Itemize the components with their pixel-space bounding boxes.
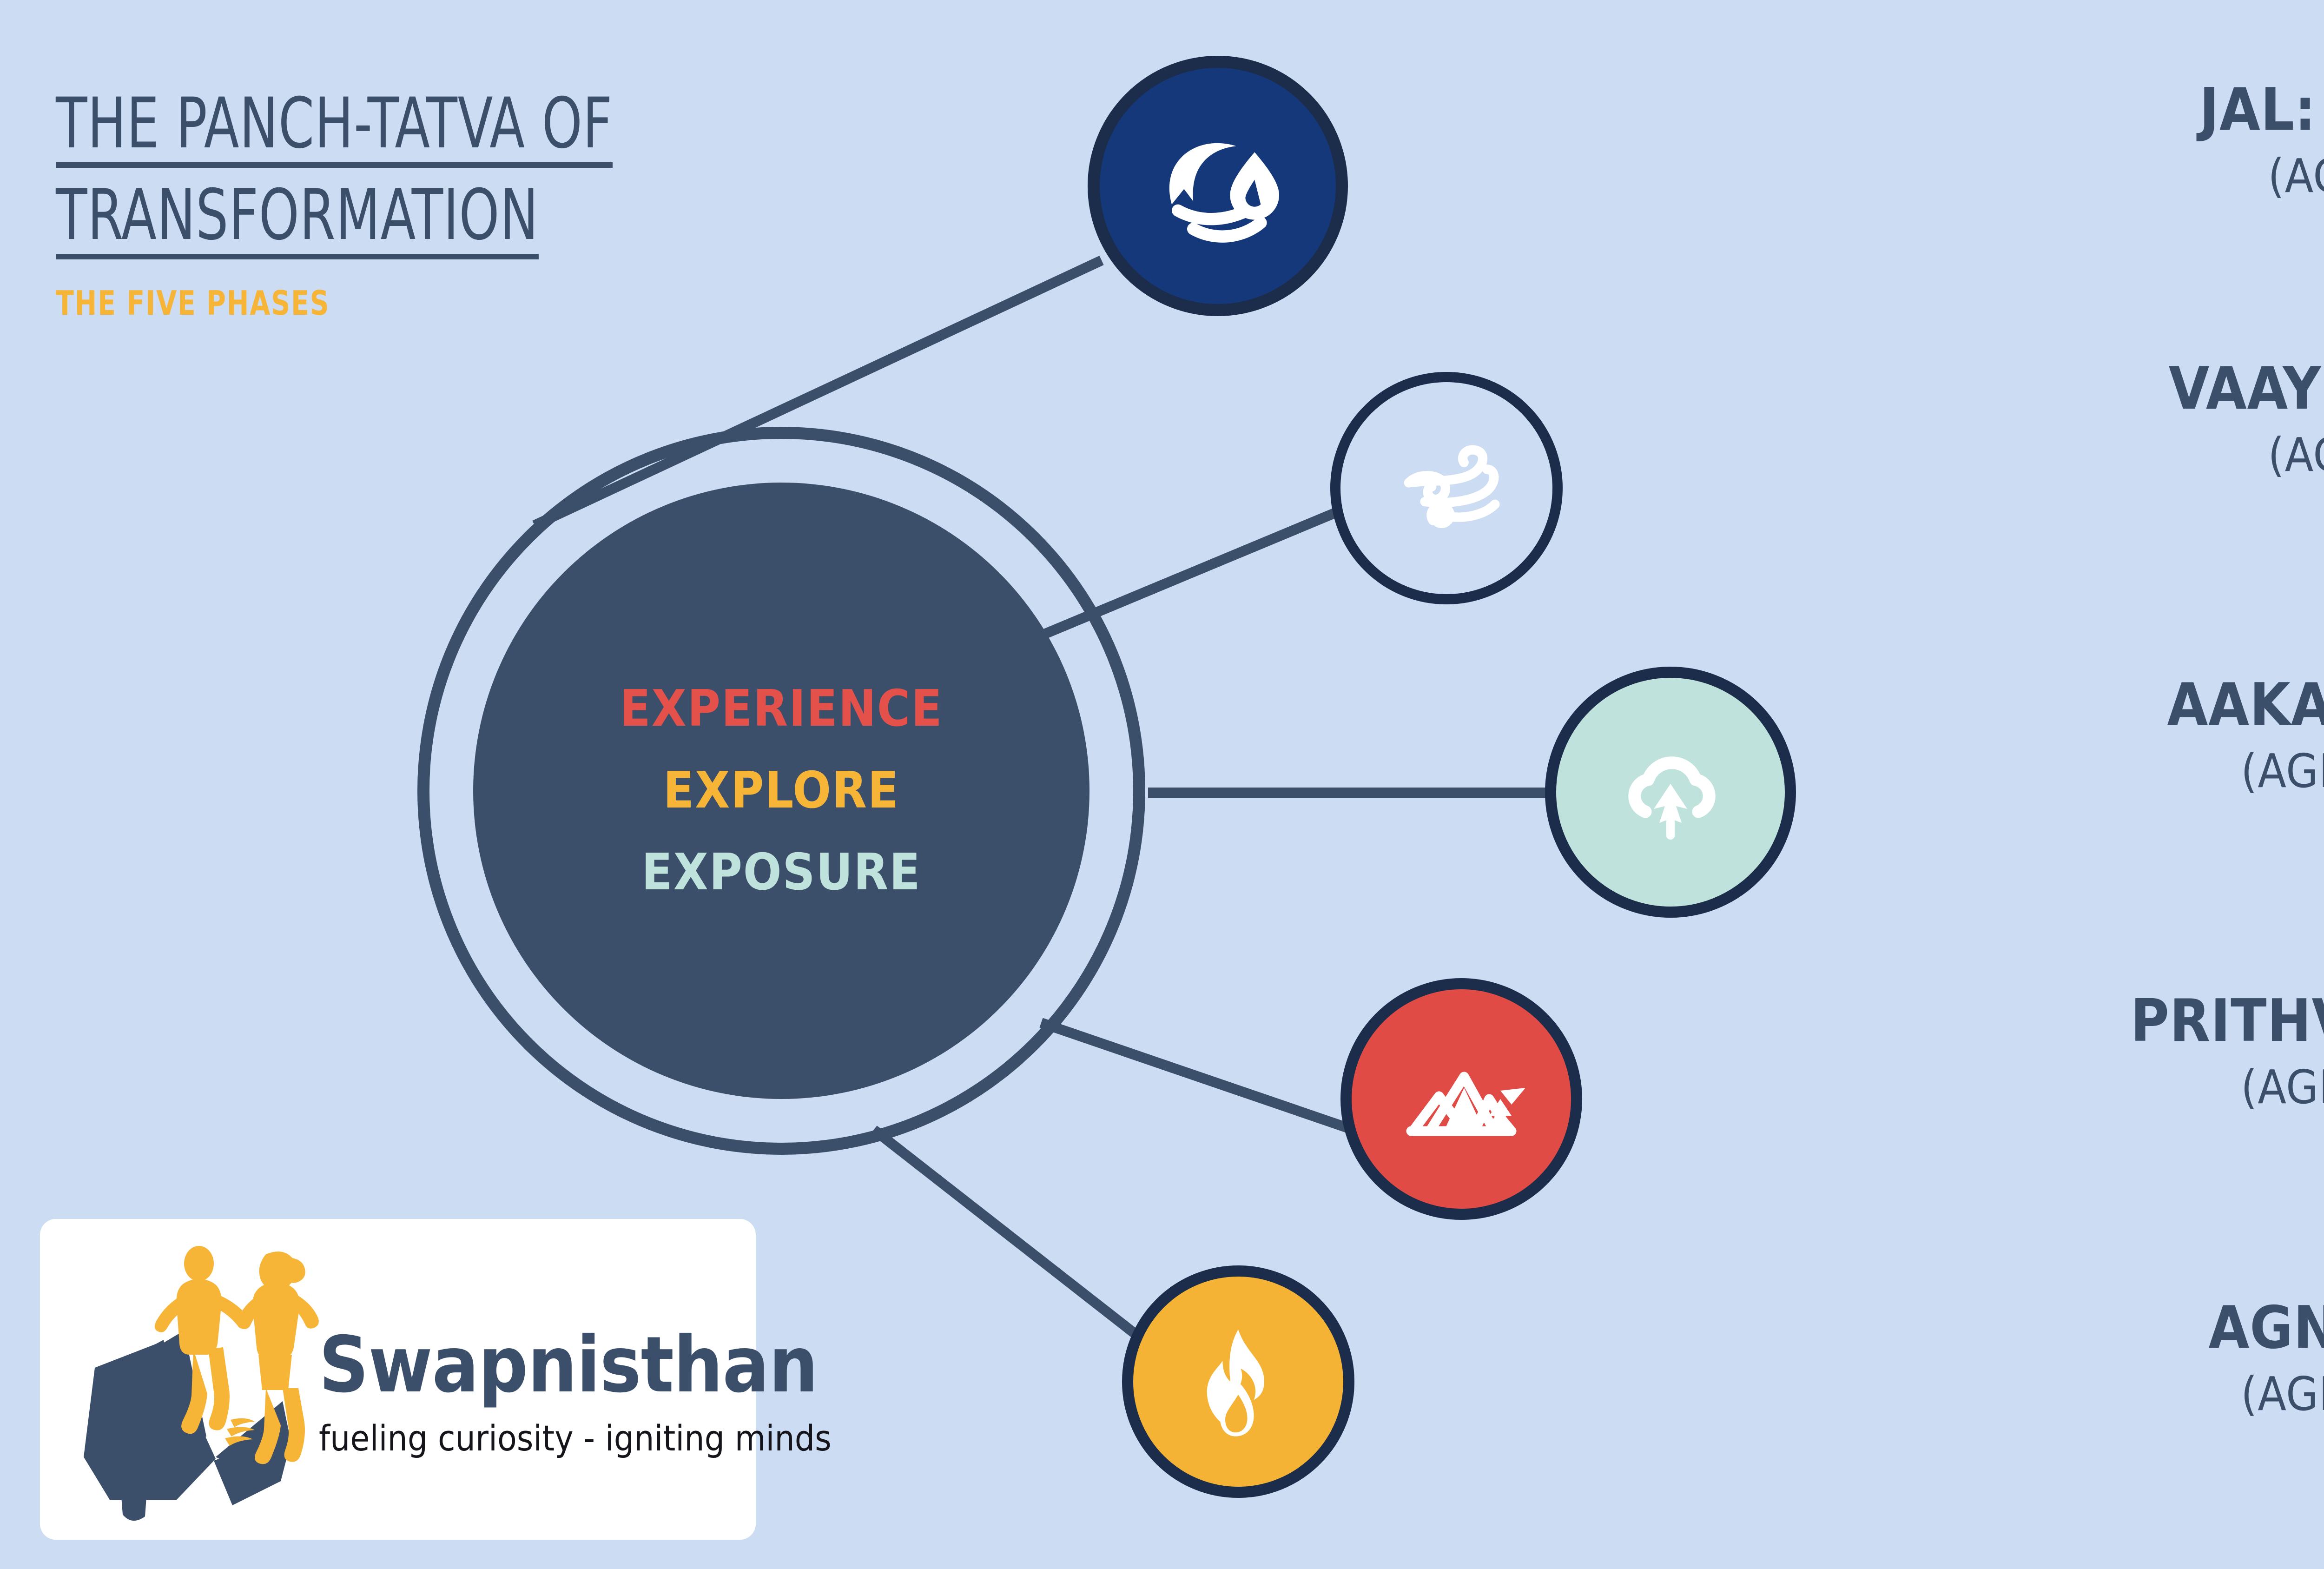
phase-label-jal-age: (AGE 5-7) — [1975, 152, 2324, 200]
wind-swirl-icon — [1379, 421, 1514, 556]
phase-label-prithvi: PRITHVI: EARTH (AGE 13-14) — [1975, 990, 2324, 1112]
phase-label-aakash-title: AAKASH: SKY — [1975, 674, 2324, 735]
phase-label-jal: JAL: WATER (AGE 5-7) — [1975, 79, 2324, 200]
hub-word-exposure: EXPOSURE — [641, 847, 921, 898]
brand-tagline: fueling curiosity - igniting minds — [319, 1421, 737, 1456]
brand-logo-card[interactable]: Swapnisthan fueling curiosity - igniting… — [40, 1219, 756, 1540]
mountain-tree-bird-icon — [1392, 1029, 1531, 1169]
hub-word-explore: EXPLORE — [663, 766, 899, 816]
connector-prithvi — [1041, 1023, 1367, 1134]
phase-label-vaayu-age: (AGE 8-9) — [1975, 430, 2324, 479]
phase-node-vaayu[interactable] — [1330, 372, 1563, 604]
phase-label-prithvi-title: PRITHVI: EARTH — [1975, 990, 2324, 1052]
phase-label-vaayu-title: VAAYU: WIND — [1975, 358, 2324, 419]
phase-label-aakash: AAKASH: SKY (AGE 10-12) — [1975, 674, 2324, 795]
connector-agni — [874, 1130, 1171, 1362]
phase-label-jal-title: JAL: WATER — [1975, 79, 2324, 140]
phase-label-vaayu: VAAYU: WIND (AGE 8-9) — [1975, 358, 2324, 479]
phase-label-column: JAL: WATER (AGE 5-7) VAAYU: WIND (AGE 8-… — [1975, 0, 2324, 1569]
phase-label-agni-title: AGNI: FIRE — [1975, 1297, 2324, 1358]
phase-node-aakash[interactable] — [1545, 667, 1796, 918]
phase-label-agni: AGNI: FIRE (AGE 15-16) — [1975, 1297, 2324, 1418]
phase-node-agni[interactable] — [1122, 1265, 1354, 1498]
cloud-arrow-up-icon — [1601, 722, 1740, 862]
center-hub-core: EXPERIENCE EXPLORE EXPOSURE — [473, 483, 1089, 1099]
water-wave-droplet-icon — [1141, 109, 1294, 263]
phase-label-agni-age: (AGE 15-16) — [1975, 1370, 2324, 1418]
brand-name: Swapnisthan — [319, 1327, 737, 1404]
flame-icon — [1173, 1317, 1303, 1447]
phase-node-prithvi[interactable] — [1340, 978, 1582, 1220]
phase-label-aakash-age: (AGE 10-12) — [1975, 747, 2324, 795]
phase-label-prithvi-age: (AGE 13-14) — [1975, 1063, 2324, 1112]
hub-word-experience: EXPERIENCE — [620, 684, 943, 734]
phase-node-jal[interactable] — [1088, 56, 1348, 316]
infographic-canvas: THE PANCH-TATVA OF TRANSFORMATION THE FI… — [0, 0, 2324, 1569]
